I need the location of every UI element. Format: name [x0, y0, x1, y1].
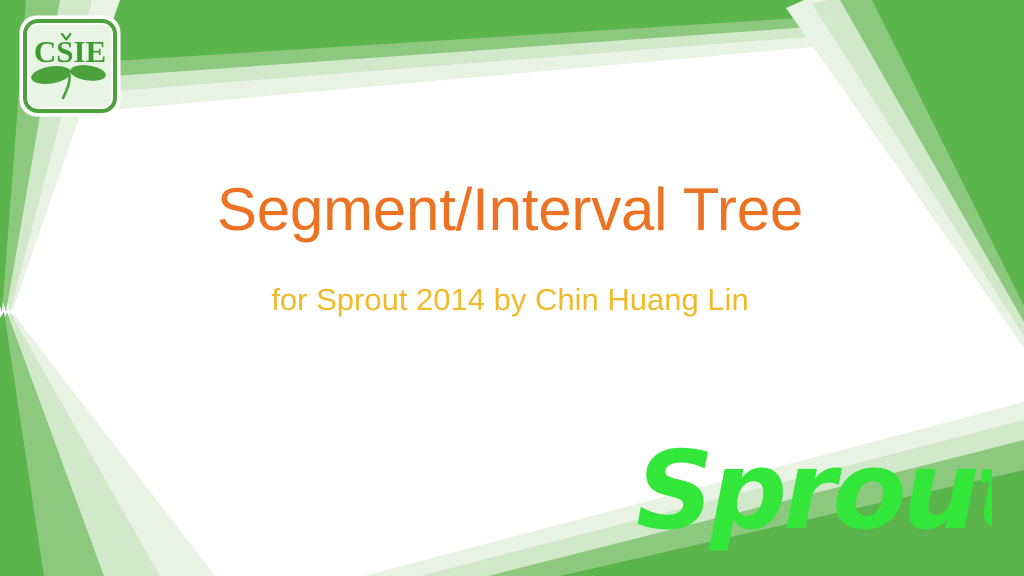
page-title: Segment/Interval Tree [80, 178, 940, 243]
sprout-wordmark-text: Sprout [636, 436, 992, 554]
presentation-slide: CSIE Segment/Interval Tree for Sprout 20… [0, 0, 1024, 576]
logo-csie-text: CSIE [34, 34, 106, 69]
csie-department-logo: CSIE [18, 14, 122, 118]
title-block: Segment/Interval Tree for Sprout 2014 by… [80, 178, 940, 317]
sprout-wordmark-logo: Sprout [636, 436, 992, 554]
slide-subtitle: for Sprout 2014 by Chin Huang Lin [80, 283, 940, 317]
